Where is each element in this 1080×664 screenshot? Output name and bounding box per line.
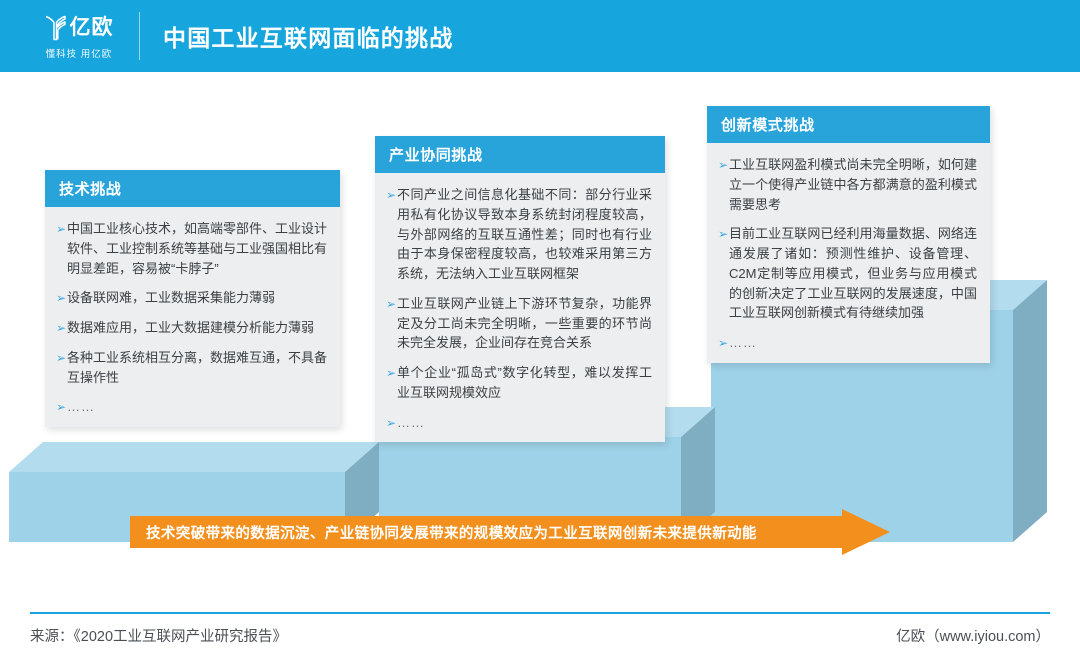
challenge-card-industry-collaboration: 产业协同挑战 ➢ 不同产业之间信息化基础不同：部分行业采用私有化协议导致本身系统… xyxy=(375,136,665,442)
page-header: 亿欧 懂科技 用亿欧 中国工业互联网面临的挑战 xyxy=(0,0,1080,72)
leaf-logo-icon xyxy=(45,15,67,41)
list-item-text: 单个企业“孤岛式”数字化转型，难以发挥工业互联网规模效应 xyxy=(397,363,652,403)
challenge-card-innovation-model: 创新模式挑战 ➢ 工业互联网盈利模式尚未完全明晰，如何建立一个使得产业链中各方都… xyxy=(707,106,990,363)
list-item-text: …… xyxy=(729,333,977,353)
footer-brand: 亿欧（www.iyiou.com） xyxy=(896,625,1050,646)
bullet-arrow-icon: ➢ xyxy=(386,415,397,432)
logo-wordmark: 亿欧 xyxy=(70,17,114,38)
list-item: ➢ 数据难应用，工业大数据建模分析能力薄弱 xyxy=(56,318,327,338)
conclusion-arrow-banner: 技术突破带来的数据沉淀、产业链协同发展带来的规模效应为工业互联网创新未来提供新动… xyxy=(130,509,890,555)
list-item-text: 各种工业系统相互分离，数据难互通，不具备互操作性 xyxy=(67,348,327,388)
list-item-text: 中国工业核心技术，如高端零部件、工业设计软件、工业控制系统等基础与工业强国相比有… xyxy=(67,219,327,278)
list-item-text: 不同产业之间信息化基础不同：部分行业采用私有化协议导致本身系统封闭程度较高，与外… xyxy=(397,185,652,284)
header-divider xyxy=(139,12,140,60)
page-title: 中国工业互联网面临的挑战 xyxy=(163,0,453,72)
challenge-card-technology: 技术挑战 ➢ 中国工业核心技术，如高端零部件、工业设计软件、工业控制系统等基础与… xyxy=(45,170,340,427)
bullet-arrow-icon: ➢ xyxy=(56,221,67,238)
brand-logo: 亿欧 懂科技 用亿欧 xyxy=(33,9,125,65)
bullet-arrow-icon: ➢ xyxy=(56,399,67,416)
list-item-text: 工业互联网产业链上下游环节复杂，功能界定及分工尚未完全明晰，一些重要的环节尚未完… xyxy=(397,294,652,353)
card-body: ➢ 不同产业之间信息化基础不同：部分行业采用私有化协议导致本身系统封闭程度较高，… xyxy=(375,173,665,442)
logo-row: 亿欧 xyxy=(45,15,114,41)
list-item: ➢ 各种工业系统相互分离，数据难互通，不具备互操作性 xyxy=(56,348,327,388)
footer-source: 来源：《2020工业互联网产业研究报告》 xyxy=(30,625,287,646)
bullet-arrow-icon: ➢ xyxy=(386,296,397,313)
card-title: 产业协同挑战 xyxy=(375,136,665,173)
list-item: ➢ 目前工业互联网已经利用海量数据、网络连通发展了诸如：预测性维护、设备管理、C… xyxy=(718,224,977,323)
list-item-ellipsis: ➢ …… xyxy=(56,397,327,417)
card-title: 技术挑战 xyxy=(45,170,340,207)
list-item-text: 设备联网难，工业数据采集能力薄弱 xyxy=(67,288,327,308)
list-item-ellipsis: ➢ …… xyxy=(386,413,652,433)
bullet-arrow-icon: ➢ xyxy=(386,187,397,204)
list-item: ➢ 工业互联网盈利模式尚未完全明晰，如何建立一个使得产业链中各方都满意的盈利模式… xyxy=(718,155,977,214)
card-body: ➢ 工业互联网盈利模式尚未完全明晰，如何建立一个使得产业链中各方都满意的盈利模式… xyxy=(707,143,990,363)
card-body: ➢ 中国工业核心技术，如高端零部件、工业设计软件、工业控制系统等基础与工业强国相… xyxy=(45,207,340,427)
list-item: ➢ 单个企业“孤岛式”数字化转型，难以发挥工业互联网规模效应 xyxy=(386,363,652,403)
bullet-arrow-icon: ➢ xyxy=(386,365,397,382)
list-item-text: 数据难应用，工业大数据建模分析能力薄弱 xyxy=(67,318,327,338)
bullet-arrow-icon: ➢ xyxy=(56,320,67,337)
list-item: ➢ 中国工业核心技术，如高端零部件、工业设计软件、工业控制系统等基础与工业强国相… xyxy=(56,219,327,278)
list-item-text: …… xyxy=(67,397,327,417)
footer-divider xyxy=(30,612,1050,614)
list-item: ➢ 不同产业之间信息化基础不同：部分行业采用私有化协议导致本身系统封闭程度较高，… xyxy=(386,185,652,284)
list-item-text: …… xyxy=(397,413,652,433)
bullet-arrow-icon: ➢ xyxy=(718,335,729,352)
list-item: ➢ 工业互联网产业链上下游环节复杂，功能界定及分工尚未完全明晰，一些重要的环节尚… xyxy=(386,294,652,353)
logo-tagline: 懂科技 用亿欧 xyxy=(46,46,113,60)
bullet-arrow-icon: ➢ xyxy=(56,290,67,307)
bullet-arrow-icon: ➢ xyxy=(56,350,67,367)
bullet-arrow-icon: ➢ xyxy=(718,157,729,174)
card-title: 创新模式挑战 xyxy=(707,106,990,143)
list-item: ➢ 设备联网难，工业数据采集能力薄弱 xyxy=(56,288,327,308)
list-item-ellipsis: ➢ …… xyxy=(718,333,977,353)
bullet-arrow-icon: ➢ xyxy=(718,226,729,243)
list-item-text: 工业互联网盈利模式尚未完全明晰，如何建立一个使得产业链中各方都满意的盈利模式需要… xyxy=(729,155,977,214)
conclusion-text: 技术突破带来的数据沉淀、产业链协同发展带来的规模效应为工业互联网创新未来提供新动… xyxy=(146,509,757,555)
list-item-text: 目前工业互联网已经利用海量数据、网络连通发展了诸如：预测性维护、设备管理、C2M… xyxy=(729,224,977,323)
